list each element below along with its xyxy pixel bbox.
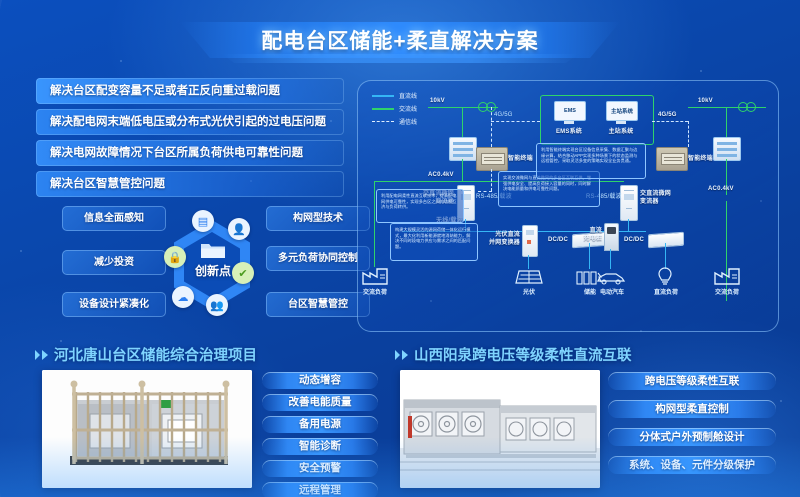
legend-label-ac: 交流线 (399, 104, 417, 113)
people-group-icon: 👥 (206, 294, 228, 316)
comm-link-ems-left (491, 121, 540, 122)
innovation-cluster: 信息全面感知 减少投资 设备设计紧凑化 构网型技术 多元负荷协同控制 台区智慧管… (62, 202, 362, 330)
dc-drop-storage (589, 243, 590, 269)
innovation-label-info-perception: 信息全面感知 (62, 206, 166, 231)
tag-dynamic-capacity: 动态增容 (262, 372, 378, 389)
tag-safety-warning: 安全预警 (262, 460, 378, 477)
lock-icon: 🔒 (164, 246, 186, 268)
ems-screen-label: EMS (554, 101, 586, 121)
project-panel-left: 河北唐山台区储能综合治理项目 (34, 344, 384, 494)
comm-line-swatch (372, 121, 394, 122)
project-left-tag-list: 动态增容 改善电能质量 备用电源 智能诊断 安全预警 远程管理 (262, 372, 378, 497)
factory-icon-right (714, 267, 740, 285)
dcdc-right-label: DC/DC (624, 236, 644, 244)
comm-label-left: 4G/5G (494, 111, 513, 119)
chart-check-icon: ✔ (232, 262, 254, 284)
dc-drop-ev (610, 249, 611, 269)
innovation-label-reduce-investment: 减少投资 (62, 250, 166, 275)
smart-terminal-label-left: 智能终端 (508, 155, 533, 163)
innovation-label-multi-load-control: 多元负荷协同控制 (266, 246, 370, 271)
solar-panel-icon (515, 269, 543, 285)
tag-outdoor-cabin-design: 分体式户外预制舱设计 (608, 428, 776, 446)
icon-label-ac-load-right: 交流负荷 (706, 287, 748, 296)
system-architecture-diagram: 直流线 交流线 通信线 10kV AC0.4kV (357, 80, 779, 332)
charging-pile-icon (604, 223, 619, 251)
smart-terminal-right-icon (656, 147, 688, 171)
innovation-hex-ring: 创新点 ▤ 👤 ✔ 👥 ☁ 🔒 (166, 210, 258, 322)
transformer-left-icon (449, 137, 477, 161)
bullet-item-4: 解决台区智慧管控问题 (36, 171, 344, 197)
pv-converter-label-line1: 光伏直流 (484, 231, 520, 239)
lv-label-right: AC0.4kV (708, 185, 734, 193)
grid-apps-icon: ▤ (192, 210, 214, 232)
hv-drop-left (462, 107, 463, 137)
legend-item-comm: 通信线 (372, 117, 417, 126)
project-right-photo (400, 370, 600, 488)
converter-label-right-line1: 交直流微网 (640, 190, 671, 198)
dc-drop-pv (528, 255, 529, 269)
converter-label-right-line2: 变流器 (640, 198, 659, 206)
ems-monitor-icon: EMS (554, 101, 584, 123)
tag-tiered-protection: 系统、设备、元件分级保护 (608, 456, 776, 474)
diagram-legend: 直流线 交流线 通信线 (372, 91, 417, 130)
ac-feed-right (726, 201, 727, 301)
icon-label-pv: 光伏 (510, 287, 548, 296)
bullet-item-1: 解决台区配变容量不足或者正反向重过载问题 (36, 78, 344, 104)
ems-caption: EMS系统 (549, 128, 589, 136)
page-title: 配电台区储能+柔直解决方案 (180, 16, 620, 64)
hv-drop-right (726, 107, 727, 137)
problem-bullet-list: 解决台区配变容量不足或者正反向重过载问题 解决配电网末端低电压或分布式光伏引起的… (36, 78, 344, 202)
master-monitor-icon: 主站系统 (606, 101, 636, 123)
project-right-tag-list: 跨电压等级柔性互联 构网型柔直控制 分体式户外预制舱设计 系统、设备、元件分级保… (608, 372, 776, 479)
cloud-upload-icon: ☁ (172, 286, 194, 308)
callout-dc-interconnection: 利用配电网柔性直流互联技术，提高配电网供电可靠性，实现多台区之间的功率互济与负荷… (376, 189, 464, 223)
callout-source-grid-load-storage: 构建大规模灵活的源网荷储一体化运行模式，最大化利用新能源就地消纳能力，解决不同时… (390, 223, 478, 261)
dc-stub-converter-right (628, 219, 629, 231)
project-right-title: 山西阳泉跨电压等级柔性直流互联 (414, 344, 632, 365)
hv-switch-icon-right (736, 101, 758, 113)
innovation-label-grid-forming: 构网型技术 (266, 206, 370, 231)
lv-label-left: AC0.4kV (428, 171, 454, 179)
car-icon (596, 271, 626, 285)
factory-icon-left (362, 267, 388, 285)
slide-canvas: 配电台区储能+柔直解决方案 解决台区配变容量不足或者正反向重过载问题 解决配电网… (0, 0, 800, 497)
charger-label-line2: 充电桩 (576, 235, 602, 243)
icon-label-dc-load: 直流负荷 (646, 287, 686, 296)
dc-drop-dcload (665, 243, 666, 269)
transformer-right-icon (713, 137, 741, 161)
smart-terminal-label-right: 智能终端 (688, 155, 713, 163)
user-badge-icon: 👤 (228, 218, 250, 240)
smart-terminal-left-icon (476, 147, 508, 171)
project-left-photo (42, 370, 252, 488)
tag-backup-power: 备用电源 (262, 416, 378, 433)
legend-item-dc: 直流线 (372, 91, 417, 100)
project-left-title: 河北唐山台区储能综合治理项目 (54, 344, 257, 365)
tag-remote-management: 远程管理 (262, 482, 378, 497)
double-arrow-icon-left (34, 349, 50, 361)
charger-label-line1: 直流 (576, 227, 602, 235)
tag-cross-voltage-interconnect: 跨电压等级柔性互联 (608, 372, 776, 390)
double-arrow-icon-right (394, 349, 410, 361)
voltage-label-right: 10kV (698, 97, 713, 105)
tag-grid-forming-control: 构网型柔直控制 (608, 400, 776, 418)
converter-cabinet-right (620, 185, 638, 221)
comm-line-left-down (491, 169, 492, 191)
ac-line-swatch (372, 108, 394, 110)
voltage-label-left: 10kV (430, 97, 445, 105)
pv-inverter-cabinet (522, 225, 538, 257)
icon-label-ac-load-left: 交流负荷 (354, 287, 396, 296)
innovation-label-compact-design: 设备设计紧凑化 (62, 292, 166, 317)
title-text: 配电台区储能+柔直解决方案 (180, 25, 620, 55)
legend-label-dc: 直流线 (399, 91, 417, 100)
project-panel-right: 山西阳泉跨电压等级柔性直流互联 (394, 344, 784, 494)
comm-line-left-branch (478, 191, 492, 192)
dc-line-swatch (372, 95, 394, 97)
dcdc-right-icon (648, 232, 684, 249)
master-screen-label: 主站系统 (606, 101, 638, 121)
comm-link-ems-right (652, 121, 688, 122)
bullet-item-3: 解决电网故障情况下台区所属负荷供电可靠性问题 (36, 140, 344, 166)
tag-smart-diagnosis: 智能诊断 (262, 438, 378, 455)
comm-label-right: 4G/5G (658, 111, 677, 119)
comm-line-right-up (688, 121, 689, 147)
pv-converter-label-line2: 并网变换器 (484, 239, 520, 247)
callout-smart-terminal: 利用智能终端实现台区设备信息采集、数据汇聚与边缘计算，结合移动APP实现多种场景… (536, 143, 646, 179)
bulb-icon (654, 267, 676, 285)
legend-item-ac: 交流线 (372, 104, 417, 113)
legend-label-comm: 通信线 (399, 117, 417, 126)
master-caption: 主站系统 (601, 128, 641, 136)
lv-drop-left (462, 159, 463, 181)
folder-icon (200, 240, 226, 259)
dcdc-left-label: DC/DC (548, 236, 568, 244)
icon-label-ev: 电动汽车 (592, 287, 632, 296)
comm-line-left-up (491, 107, 492, 147)
tag-power-quality: 改善电能质量 (262, 394, 378, 411)
title-banner-underline (222, 54, 578, 63)
ac-drop-left-load (374, 181, 375, 267)
bullet-item-2: 解决配电网末端低电压或分布式光伏引起的过电压问题 (36, 109, 344, 135)
